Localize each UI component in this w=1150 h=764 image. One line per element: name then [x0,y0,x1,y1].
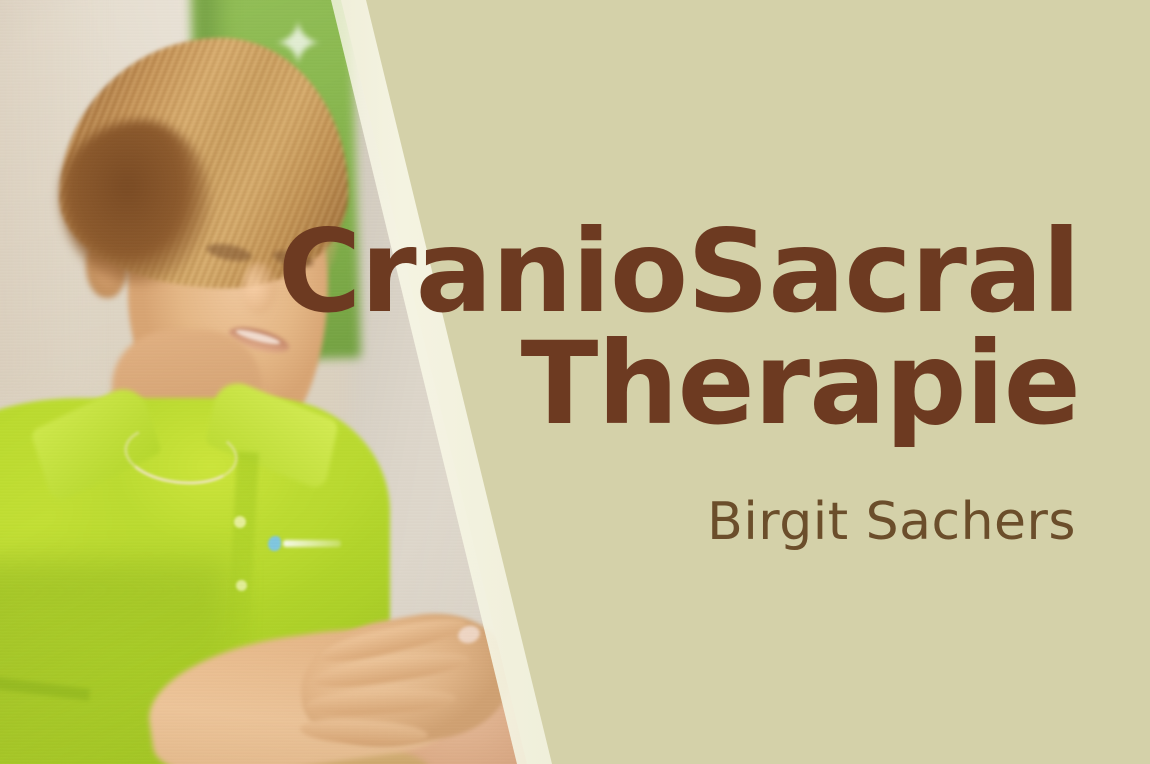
shirt-logo-wordmark [283,540,341,547]
therapist-nose [242,262,276,314]
shirt-logo-icon [268,536,281,551]
page-title-line-1: CranioSacral [278,216,1080,328]
page-title-line-2: Therapie [521,328,1080,440]
subtitle-author: Birgit Sachers [707,496,1076,548]
text-block: CranioSacral Therapie Birgit Sachers [420,0,1080,764]
shirt-button-lower [236,580,247,591]
poster-card: ✦ Cr [0,0,1150,764]
shirt-button-upper [234,516,246,528]
